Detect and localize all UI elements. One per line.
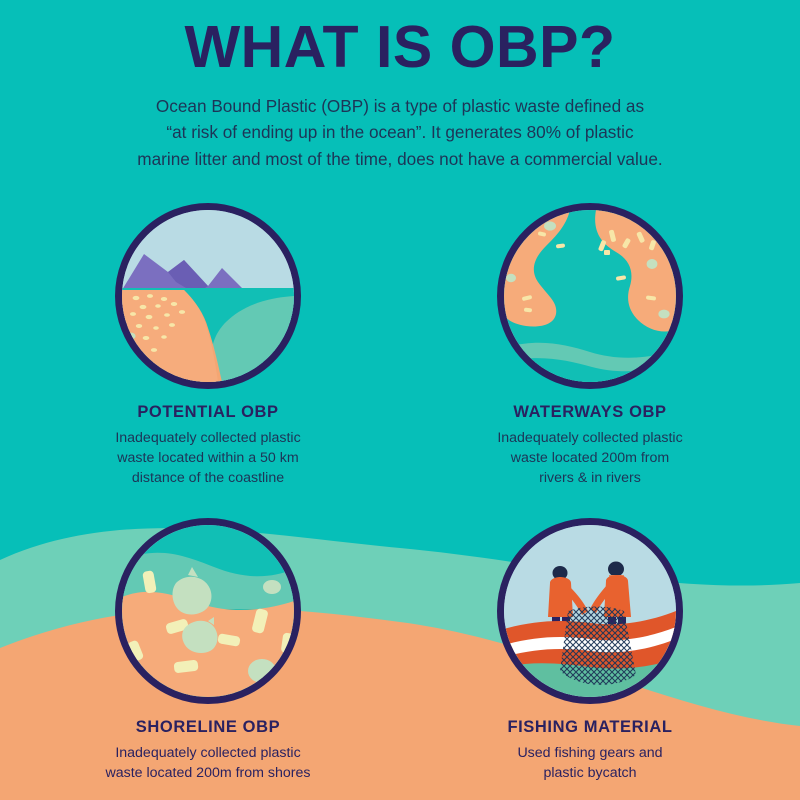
subtitle-line-3: marine litter and most of the time, does… bbox=[80, 146, 720, 172]
desc-line: waste located 200m from shores bbox=[43, 763, 373, 783]
circle-wrap-potential-obp bbox=[115, 203, 301, 389]
page-title: WHAT IS OBP? bbox=[0, 0, 800, 77]
item-label-potential-obp: POTENTIAL OBP bbox=[43, 389, 373, 422]
item-potential-obp: POTENTIAL OBP Inadequately collected pla… bbox=[43, 203, 373, 488]
item-shoreline-obp: SHORELINE OBP Inadequately collected pla… bbox=[43, 518, 373, 783]
item-desc-potential-obp: Inadequately collected plastic waste loc… bbox=[43, 422, 373, 488]
subtitle-line-2: “at risk of ending up in the ocean”. It … bbox=[80, 119, 720, 145]
item-label-fishing-material: FISHING MATERIAL bbox=[425, 704, 755, 737]
desc-line: Inadequately collected plastic bbox=[43, 743, 373, 763]
desc-line: waste located within a 50 km bbox=[43, 448, 373, 468]
coastline-illustration-icon bbox=[115, 203, 301, 389]
desc-line: waste located 200m from bbox=[425, 448, 755, 468]
desc-line: rivers & in rivers bbox=[425, 468, 755, 488]
fishermen-net-illustration-icon bbox=[497, 518, 683, 704]
desc-line: plastic bycatch bbox=[425, 763, 755, 783]
subtitle-line-1: Ocean Bound Plastic (OBP) is a type of p… bbox=[80, 93, 720, 119]
circle-wrap-fishing-material bbox=[497, 518, 683, 704]
item-label-shoreline-obp: SHORELINE OBP bbox=[43, 704, 373, 737]
desc-line: Used fishing gears and bbox=[425, 743, 755, 763]
shoreline-litter-illustration-icon bbox=[115, 518, 301, 704]
desc-line: distance of the coastline bbox=[43, 468, 373, 488]
item-desc-shoreline-obp: Inadequately collected plastic waste loc… bbox=[43, 737, 373, 783]
circle-wrap-shoreline-obp bbox=[115, 518, 301, 704]
desc-line: Inadequately collected plastic bbox=[425, 428, 755, 448]
item-label-waterways-obp: WATERWAYS OBP bbox=[425, 389, 755, 422]
item-desc-fishing-material: Used fishing gears and plastic bycatch bbox=[425, 737, 755, 783]
item-desc-waterways-obp: Inadequately collected plastic waste loc… bbox=[425, 422, 755, 488]
item-fishing-material: FISHING MATERIAL Used fishing gears and … bbox=[425, 518, 755, 783]
river-illustration-icon bbox=[497, 203, 683, 389]
obp-infographic: WHAT IS OBP? Ocean Bound Plastic (OBP) i… bbox=[0, 0, 800, 800]
page-subtitle: Ocean Bound Plastic (OBP) is a type of p… bbox=[80, 77, 720, 172]
item-waterways-obp: WATERWAYS OBP Inadequately collected pla… bbox=[425, 203, 755, 488]
header: WHAT IS OBP? Ocean Bound Plastic (OBP) i… bbox=[0, 0, 800, 172]
circle-wrap-waterways-obp bbox=[497, 203, 683, 389]
desc-line: Inadequately collected plastic bbox=[43, 428, 373, 448]
